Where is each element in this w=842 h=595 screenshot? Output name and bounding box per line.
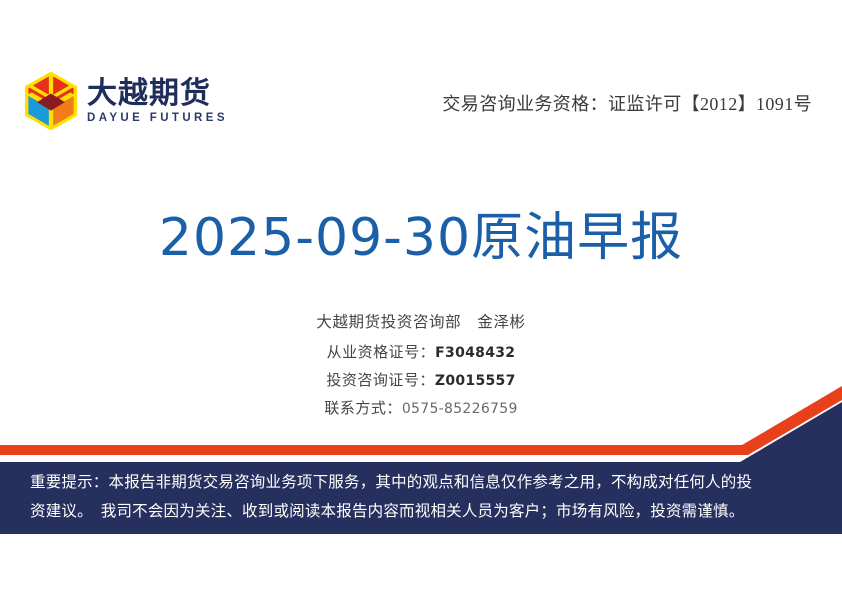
practice-certificate-row: 从业资格证号：F3048432: [0, 341, 842, 362]
qualification-statement: 交易咨询业务资格：证监许可【2012】1091号: [442, 90, 812, 116]
practice-certificate-label: 从业资格证号：: [327, 345, 436, 361]
logo-name-cn: 大越期货: [87, 78, 228, 110]
department-and-author: 大越期货投资咨询部 金泽彬: [0, 310, 842, 332]
orange-accent-stripe: [0, 386, 842, 455]
disclaimer-line-2: 资建议。 我司不会因为关注、收到或阅读本报告内容而视相关人员为客户；市场有风险，…: [30, 497, 812, 526]
practice-certificate-number: F3048432: [435, 345, 515, 361]
disclaimer-line-1: 重要提示：本报告非期货交易咨询业务项下服务，其中的观点和信息仅作参考之用，不构成…: [30, 468, 812, 497]
logo-name-en: DAYUE FUTURES: [87, 113, 228, 125]
disclaimer-text: 重要提示：本报告非期货交易咨询业务项下服务，其中的观点和信息仅作参考之用，不构成…: [0, 468, 842, 526]
company-logo: 大越期货 DAYUE FUTURES: [24, 72, 228, 130]
dayue-hexagon-logo-icon: [24, 72, 78, 130]
page-title: 2025-09-30原油早报: [0, 206, 842, 271]
logo-wordmark: 大越期货 DAYUE FUTURES: [87, 78, 228, 125]
page-header: 大越期货 DAYUE FUTURES 交易咨询业务资格：证监许可【2012】10…: [0, 0, 842, 160]
report-cover-page: 大越期货 DAYUE FUTURES 交易咨询业务资格：证监许可【2012】10…: [0, 0, 842, 595]
